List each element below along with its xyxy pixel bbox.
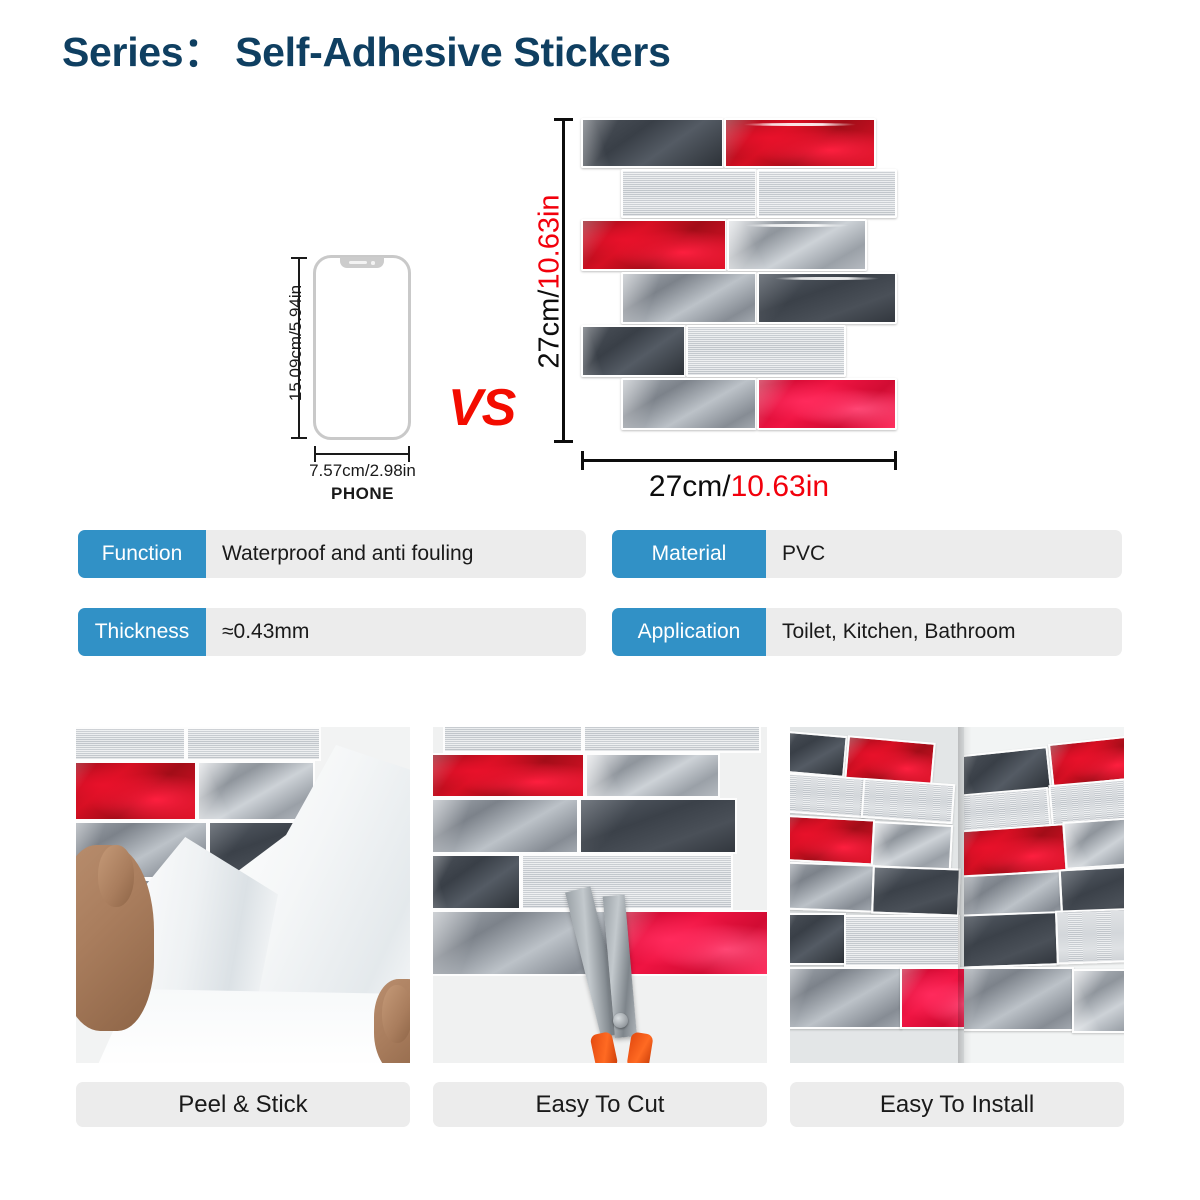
phone-width-dimension-line (314, 453, 410, 455)
phone-outline-icon (313, 255, 411, 440)
mosaic-tile (757, 272, 897, 324)
photo-wall-tile (443, 727, 583, 753)
spec-key-application: Application (612, 608, 766, 656)
photo-wall-tile (964, 967, 1074, 1031)
tile-height-cm: 27cm/ (534, 290, 566, 369)
photo-wall-tile (433, 753, 585, 798)
product-infographic: Series： Self-Adhesive Stickers 15.09cm/5… (0, 0, 1200, 1200)
photo-wall-tile (521, 854, 733, 910)
phone-notch-icon (340, 257, 384, 268)
wall-corner-shadow (958, 727, 972, 1063)
phone-height-cap-top (291, 257, 307, 259)
photo-wall-tile (871, 865, 961, 916)
phone-width-cap-left (314, 446, 316, 462)
photo-wall-tile (900, 967, 964, 1029)
page-title: Series： Self-Adhesive Stickers (62, 18, 671, 78)
photo-wall-tile (790, 730, 848, 778)
tile-mosaic (575, 118, 897, 443)
phone-name-label: PHONE (265, 484, 460, 504)
photo-wall-tile (1072, 969, 1124, 1033)
phone-camera-icon (371, 261, 375, 265)
wall-right-face (964, 727, 1124, 1063)
photo-wall-tile (583, 727, 761, 753)
spec-key-material: Material (612, 530, 766, 578)
spec-value-function: Waterproof and anti fouling (206, 530, 489, 578)
spec-key-thickness: Thickness (78, 608, 206, 656)
spec-value-material: PVC (766, 530, 841, 578)
tile-width-dimension-line (581, 459, 897, 462)
easy-to-install-photo (790, 727, 1124, 1063)
feature-card-easy-to-cut: Easy To Cut (433, 727, 767, 1127)
phone-speaker-icon (349, 261, 367, 264)
photo-wall-tile (617, 910, 767, 976)
shears-handle-right (626, 1032, 653, 1063)
photo-wall-tile (579, 798, 737, 854)
easy-to-cut-photo (433, 727, 767, 1063)
spec-row-function: Function Waterproof and anti fouling (78, 530, 586, 578)
photo-wall-tile (585, 753, 720, 798)
mosaic-tile (621, 272, 757, 324)
vs-label: VS (448, 378, 515, 438)
mosaic-tile (724, 118, 876, 168)
photo-wall-tile (790, 861, 875, 912)
peel-stick-photo (76, 727, 410, 1063)
photo-wall-tile (76, 727, 186, 761)
phone-height-cap-bottom (291, 437, 307, 439)
mosaic-tile (686, 325, 846, 377)
photo-wall-tile (790, 814, 875, 865)
shears-pivot (613, 1013, 628, 1028)
photo-wall-tile (790, 967, 902, 1029)
photo-wall-tile (1062, 816, 1124, 870)
photo-wall-tile (186, 727, 321, 761)
photo-wall-tile (197, 761, 315, 821)
spec-value-thickness: ≈0.43mm (206, 608, 325, 656)
photo-wall-tile (433, 798, 579, 854)
feature-card-peel-stick: Peel & Stick (76, 727, 410, 1127)
tile-width-cap-left (581, 451, 584, 470)
photo-wall-tile (790, 772, 867, 818)
phone-width-label: 7.57cm/2.98in (265, 461, 460, 481)
mosaic-tile (621, 378, 757, 430)
tile-sheet-comparison: 27cm/10.63in (575, 118, 897, 443)
photo-wall-tile (433, 854, 521, 910)
spec-row-material: Material PVC (612, 530, 1122, 578)
tile-width-in: 10.63in (731, 470, 829, 503)
wall-left-face (790, 727, 964, 1063)
feature-card-easy-to-install: Easy To Install (790, 727, 1124, 1127)
photo-wall-tile (76, 761, 197, 821)
mosaic-tile (757, 169, 897, 218)
photo-wall-tile (1055, 907, 1124, 964)
tile-width-cap-right (894, 451, 897, 470)
mosaic-tile (621, 169, 757, 218)
feature-caption-easy-to-install: Easy To Install (790, 1082, 1124, 1127)
tile-width-cm: 27cm/ (649, 470, 731, 503)
mosaic-tile (581, 219, 727, 271)
photo-wall-tile (790, 913, 846, 965)
photo-wall-tile (964, 911, 1059, 969)
tile-height-in: 10.63in (534, 194, 566, 289)
feature-caption-peel-stick: Peel & Stick (76, 1082, 410, 1127)
spec-key-function: Function (78, 530, 206, 578)
feature-caption-easy-to-cut: Easy To Cut (433, 1082, 767, 1127)
spec-row-application: Application Toilet, Kitchen, Bathroom (612, 608, 1122, 656)
size-comparison-section: 15.09cm/5.94in 7.57cm/2.98in PHONE VS 27… (0, 100, 1200, 500)
mosaic-tile (581, 118, 724, 168)
spec-row-thickness: Thickness ≈0.43mm (78, 608, 586, 656)
phone-height-label: 15.09cm/5.94in (286, 261, 306, 425)
finger-right-thumb (382, 985, 410, 1043)
spec-value-application: Toilet, Kitchen, Bathroom (766, 608, 1031, 656)
tile-width-label: 27cm/10.63in (575, 470, 903, 504)
tile-height-label: 27cm/10.63in (534, 122, 567, 442)
mosaic-tile (727, 219, 867, 271)
photo-wall-tile (844, 915, 960, 967)
photo-wall-tile (871, 821, 953, 871)
photo-wall-tile (861, 778, 956, 824)
finger-left-thumb (98, 845, 134, 907)
mosaic-tile (581, 325, 686, 377)
mosaic-tile (757, 378, 897, 430)
phone-width-cap-right (408, 446, 410, 462)
